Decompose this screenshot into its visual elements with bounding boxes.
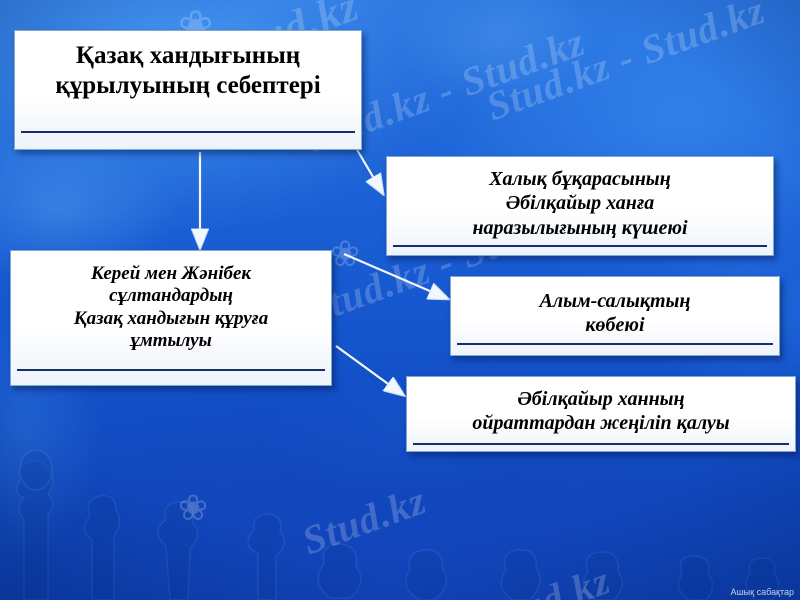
node-left-line-1: Керей мен Жәнібек xyxy=(19,263,323,285)
node-right-bottom-line-1: Әбілқайыр ханның xyxy=(415,387,787,411)
node-left-line-3: Қазақ хандығын құруға xyxy=(19,308,323,330)
node-right-middle: Алым-салықтың көбеюі xyxy=(450,276,780,356)
node-left-underline xyxy=(17,369,325,371)
node-right-bottom: Әбілқайыр ханның ойраттардан жеңіліп қал… xyxy=(406,376,796,452)
node-right-middle-line-2: көбеюі xyxy=(461,313,769,337)
node-right-top-underline xyxy=(393,245,767,247)
title-line-2: құрылуының себептері xyxy=(25,71,351,101)
node-right-top: Халық бұқарасының Әбілқайыр ханға наразы… xyxy=(386,156,774,256)
title-line-1: Қазақ хандығының xyxy=(25,41,351,71)
node-right-bottom-underline xyxy=(413,443,789,445)
footer-credit: Ашық сабақтар xyxy=(730,587,794,597)
title-underline xyxy=(21,131,355,133)
node-left-line-4: ұмтылуы xyxy=(19,330,323,352)
node-right-top-line-2: Әбілқайыр ханға xyxy=(397,191,763,215)
node-right-top-line-1: Халық бұқарасының xyxy=(397,167,763,191)
slide-canvas: ❀ ❀ ❀ © Stud.kz Stud.kz - Stud.kz Stud.k… xyxy=(0,0,800,600)
node-right-middle-underline xyxy=(457,343,773,345)
node-left-line-2: сұлтандардың xyxy=(19,285,323,307)
node-right-bottom-line-2: ойраттардан жеңіліп қалуы xyxy=(415,411,787,435)
node-right-top-line-3: наразылығының күшеюі xyxy=(397,216,763,240)
node-right-middle-line-1: Алым-салықтың xyxy=(461,289,769,313)
node-left: Керей мен Жәнібек сұлтандардың Қазақ хан… xyxy=(10,250,332,386)
title-box: Қазақ хандығының құрылуының себептері xyxy=(14,30,362,150)
